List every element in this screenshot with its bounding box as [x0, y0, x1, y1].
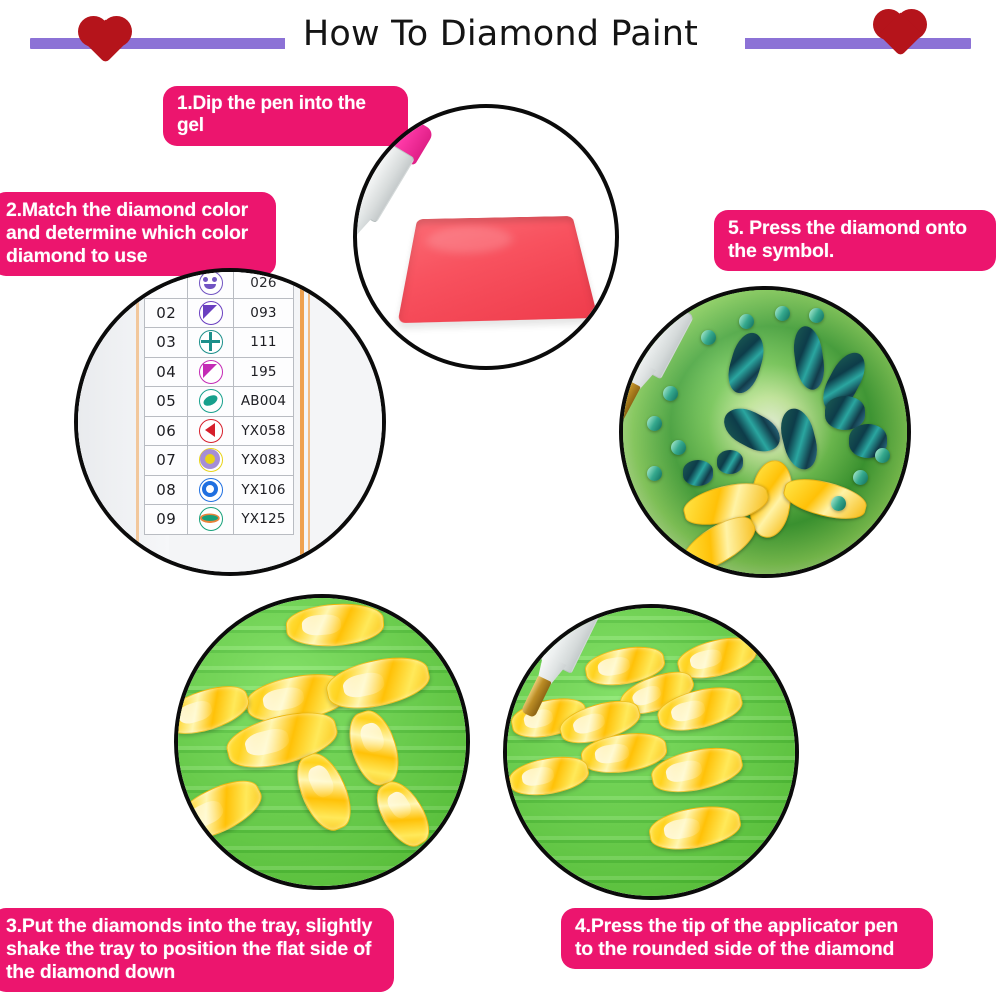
chart-row-number: 07	[145, 446, 188, 476]
step-4-photo	[503, 604, 799, 900]
chart-row-number: 06	[145, 416, 188, 446]
step-1-photo	[353, 104, 619, 370]
leaf-icon	[188, 505, 234, 535]
color-chart-row: 04195	[145, 357, 294, 387]
triangle-icon	[188, 357, 234, 387]
chart-row-code: YX125	[233, 505, 293, 535]
chart-row-number	[145, 269, 188, 299]
step-5-label: 5. Press the diamond onto the symbol.	[714, 210, 996, 271]
chart-row-number: 04	[145, 357, 188, 387]
ring-icon	[188, 475, 234, 505]
chart-row-code: YX083	[233, 446, 293, 476]
color-chart-row: 08YX106	[145, 475, 294, 505]
plus-icon	[188, 328, 234, 358]
page-title: How To Diamond Paint	[0, 14, 1001, 54]
symbol-marker	[671, 440, 686, 455]
symbol-marker	[809, 308, 824, 323]
color-chart-table: 02602093031110419505AB00406YX05807YX0830…	[144, 268, 294, 535]
diamond-bead	[646, 800, 744, 855]
chart-row-number: 02	[145, 298, 188, 328]
color-chart-row: 026	[145, 269, 294, 299]
symbol-marker	[831, 496, 846, 511]
symbol-marker	[875, 448, 890, 463]
symbol-marker	[647, 466, 662, 481]
smiley-circle-icon	[188, 269, 234, 299]
diamond-bead	[341, 705, 406, 791]
color-chart-row: 07YX083	[145, 446, 294, 476]
chart-row-code: YX106	[233, 475, 293, 505]
step-5-photo	[619, 286, 911, 578]
chart-row-number: 03	[145, 328, 188, 358]
step-4-label: 4.Press the tip of the applicator pen to…	[561, 908, 933, 969]
arrow-left-icon	[188, 416, 234, 446]
symbol-marker	[739, 314, 754, 329]
step-3-label: 3.Put the diamonds into the tray, slight…	[0, 908, 394, 992]
chart-margin-line	[300, 272, 304, 572]
chart-row-number: 08	[145, 475, 188, 505]
chart-row-code: 111	[233, 328, 293, 358]
color-chart-row: 03111	[145, 328, 294, 358]
symbol-marker	[647, 416, 662, 431]
chart-row-code: AB004	[233, 387, 293, 417]
diamond-bead	[683, 460, 713, 486]
chart-margin-line	[136, 272, 139, 572]
triangle-icon	[188, 298, 234, 328]
gel-pad	[397, 216, 597, 323]
diamond-bead	[506, 751, 591, 800]
diamond-bead	[285, 601, 386, 650]
step-2-label: 2.Match the diamond color and determine …	[0, 192, 276, 276]
color-chart-row: 09YX125	[145, 505, 294, 535]
diamond-bead	[791, 324, 828, 391]
symbol-marker	[701, 330, 716, 345]
color-chart-row: 06YX058	[145, 416, 294, 446]
chart-row-code: 093	[233, 298, 293, 328]
chart-margin-line	[308, 272, 310, 572]
symbol-marker	[663, 386, 678, 401]
diamond-bead	[322, 650, 433, 717]
chart-row-code: 195	[233, 357, 293, 387]
color-chart-row: 02093	[145, 298, 294, 328]
chart-row-number: 09	[145, 505, 188, 535]
chart-row-number: 05	[145, 387, 188, 417]
dot-circle-icon	[188, 446, 234, 476]
symbol-marker	[775, 306, 790, 321]
header: How To Diamond Paint	[0, 0, 1001, 78]
symbol-marker	[853, 470, 868, 485]
infographic-page: How To Diamond Paint 1.Dip the pen into …	[0, 0, 1001, 1001]
diamond-bead	[174, 770, 269, 850]
step-2-photo: 02602093031110419505AB00406YX05807YX0830…	[74, 268, 386, 576]
step-3-photo	[174, 594, 470, 890]
oval-icon	[188, 387, 234, 417]
chart-row-code: 026	[233, 269, 293, 299]
diamond-bead	[717, 450, 743, 474]
color-chart-row: 05AB004	[145, 387, 294, 417]
chart-row-code: YX058	[233, 416, 293, 446]
diamond-bead	[723, 329, 769, 397]
